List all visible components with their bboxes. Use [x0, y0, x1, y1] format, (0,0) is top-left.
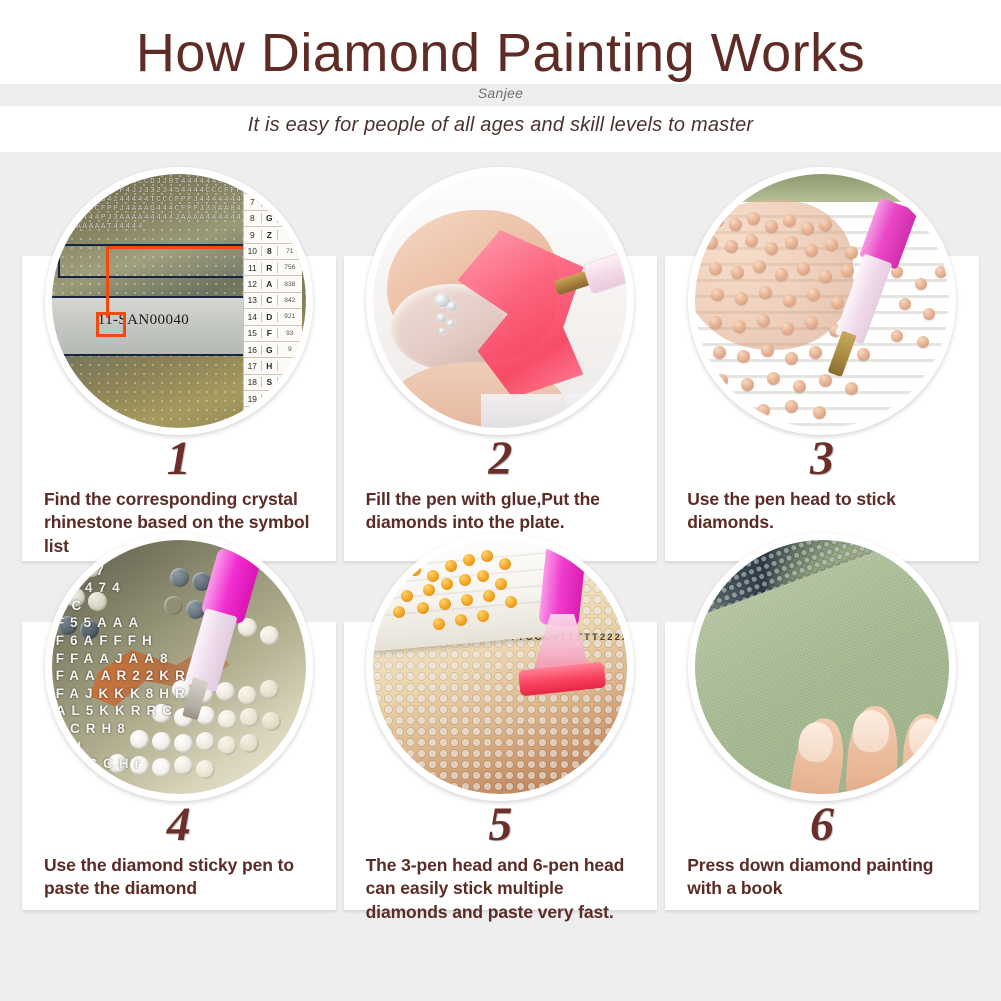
legend-number: 10 [244, 246, 262, 256]
step-card-4[interactable]: I445477R7474CCF55AAAF6AFFFHFFAAJAA8FAAAR… [22, 622, 336, 910]
legend-row: 8G [244, 211, 302, 227]
legend-row: 16G9 [244, 342, 302, 358]
legend-symbol: R [262, 263, 278, 273]
step-caption-2: Fill the pen with glue,Put the diamonds … [366, 488, 642, 535]
page-title: How Diamond Painting Works [0, 22, 1001, 84]
step-card-5[interactable]: SCCTTTTTTTTT99922TTCCCTTTTTT2222TTTT999C… [344, 622, 658, 910]
brand-name: Sanjee [0, 85, 1001, 101]
legend-code: 9 [278, 346, 302, 353]
legend-number: 17 [244, 361, 262, 371]
legend-row: 6 [244, 178, 302, 194]
page-header: How Diamond Painting Works Sanjee It is … [0, 0, 1001, 152]
step-number-5: 5 [344, 797, 658, 852]
multi-pen-head-tool [515, 540, 607, 724]
legend-code: 756 [278, 264, 302, 271]
legend-number: 7 [244, 197, 262, 207]
legend-symbol: K [262, 394, 278, 404]
legend-number: 11 [244, 263, 262, 273]
symbol-list-legend: 6 7J 8G 9Z 10871 11R756 12A838 13C842 14… [243, 178, 302, 428]
steps-grid: MMKKY4433344GCCDJJ8T444444GGGCPPJJ66A344… [22, 256, 979, 910]
step-card-2[interactable]: 2 Fill the pen with glue,Put the diamond… [344, 256, 658, 561]
legend-row: 9Z [244, 227, 302, 243]
legend-symbol: F [262, 328, 278, 338]
legend-symbol: G [262, 213, 278, 223]
legend-row: 18S [244, 375, 302, 391]
legend-code: 93 [278, 330, 302, 337]
step-number-4: 4 [22, 797, 336, 852]
tool-multi-head-pad [518, 662, 606, 697]
step-photo-3 [688, 167, 956, 435]
step-card-6[interactable]: 6 Press down diamond painting with a boo… [665, 622, 979, 910]
legend-symbol: A [262, 279, 278, 289]
legend-row: 13C842 [244, 293, 302, 309]
legend-row: 15F93 [244, 326, 302, 342]
step-caption-6: Press down diamond painting with a book [687, 854, 963, 901]
step-photo-6 [688, 533, 956, 801]
legend-symbol: H [262, 361, 278, 371]
legend-code: 71 [278, 248, 302, 255]
steps-row-bottom: I445477R7474CCF55AAAF6AFFFHFFAAJAA8FAAAR… [22, 622, 979, 910]
legend-symbol: 8 [262, 246, 278, 256]
step-photo-2 [366, 167, 634, 435]
step-caption-3: Use the pen head to stick diamonds. [687, 488, 963, 535]
step-caption-4: Use the diamond sticky pen to paste the … [44, 854, 320, 901]
step-number-2: 2 [344, 431, 658, 486]
legend-row: 12A838 [244, 276, 302, 292]
step-photo-1: MMKKY4433344GCCDJJ8T444444GGGCPPJJ66A344… [45, 167, 313, 435]
step-card-3[interactable]: 3 Use the pen head to stick diamonds. [665, 256, 979, 561]
legend-row: 14D921 [244, 309, 302, 325]
legend-symbol: S [262, 377, 278, 387]
legend-row: 19K [244, 391, 302, 407]
step-photo-5: SCCTTTTTTTTT99922TTCCCTTTTTT2222TTTT999C… [366, 533, 634, 801]
step-photo-4: I445477R7474CCF55AAAF6AFFFHFFAAJAA8FAAAR… [45, 533, 313, 801]
legend-row: 7J [244, 194, 302, 210]
legend-symbol: G [262, 345, 278, 355]
legend-code: 842 [278, 297, 302, 304]
step-number-6: 6 [665, 797, 979, 852]
step-card-1[interactable]: MMKKY4433344GCCDJJ8T444444GGGCPPJJ66A344… [22, 256, 336, 561]
legend-row: 10871 [244, 244, 302, 260]
steps-board: MMKKY4433344GCCDJJ8T444444GGGCPPJJ66A344… [0, 152, 1001, 1001]
callout-line-vertical [106, 246, 109, 318]
legend-code: 838 [278, 281, 302, 288]
legend-code: 921 [278, 313, 302, 320]
legend-number: 16 [244, 345, 262, 355]
legend-number: 13 [244, 295, 262, 305]
legend-symbol: J [262, 197, 278, 207]
step-caption-5: The 3-pen head and 6-pen head can easily… [366, 854, 642, 924]
legend-symbol: D [262, 312, 278, 322]
legend-number: 14 [244, 312, 262, 322]
step-number-3: 3 [665, 431, 979, 486]
legend-row-highlighted: 11R756 [244, 260, 302, 276]
legend-number: 19 [244, 394, 262, 404]
page-subtitle: It is easy for people of all ages and sk… [0, 114, 1001, 137]
canvas-strip-top [58, 244, 248, 278]
legend-number: 6 [244, 181, 262, 191]
legend-number: 15 [244, 328, 262, 338]
pen-metal-tip [827, 331, 856, 377]
legend-number: 18 [244, 377, 262, 387]
legend-number: 12 [244, 279, 262, 289]
step-number-1: 1 [22, 431, 336, 486]
background-strip [481, 394, 627, 428]
legend-number: 9 [244, 230, 262, 240]
legend-row: 17H [244, 358, 302, 374]
legend-symbol: C [262, 295, 278, 305]
legend-number: 8 [244, 213, 262, 223]
highlight-box-code [96, 312, 126, 337]
nail-gems [435, 294, 477, 342]
steps-row-top: MMKKY4433344GCCDJJ8T444444GGGCPPJJ66A344… [22, 256, 979, 561]
legend-symbol: Z [262, 230, 278, 240]
